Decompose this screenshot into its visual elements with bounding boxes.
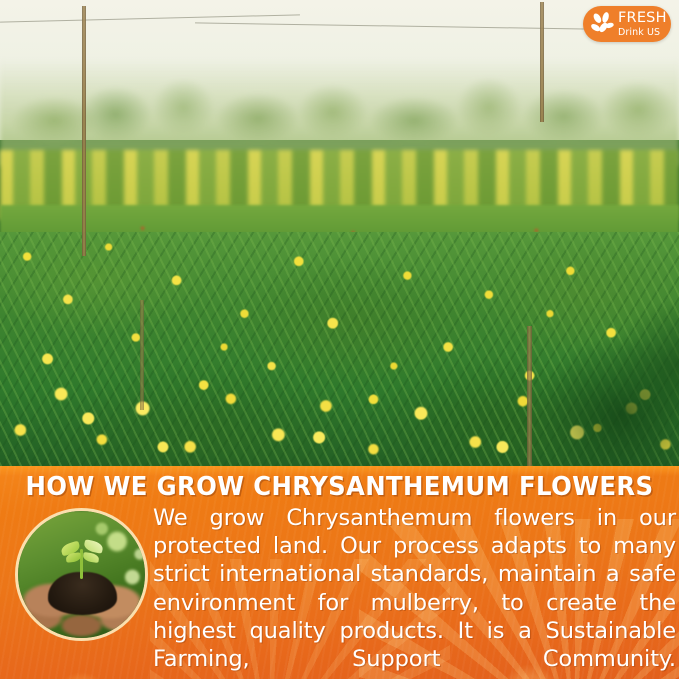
brand-name-primary: FRESH xyxy=(618,11,667,26)
support-pole-right xyxy=(540,2,544,122)
seedling-thumbnail xyxy=(15,508,148,641)
panel-headline: HOW WE GROW CHRYSANTHEMUM FLOWERS xyxy=(15,472,663,502)
product-infographic-card: FRESH Drink US HOW WE GROW CHRYSANTHEMUM… xyxy=(0,0,679,679)
brand-wordmark: FRESH Drink US xyxy=(618,11,667,38)
dark-bush-right xyxy=(489,296,679,466)
support-pole-far-right xyxy=(527,326,532,466)
support-pole-mid xyxy=(140,300,144,410)
brand-logo-badge[interactable]: FRESH Drink US xyxy=(583,6,671,42)
brand-name-secondary: Drink US xyxy=(618,28,667,38)
soil-mound xyxy=(48,572,117,615)
support-pole-left xyxy=(82,6,86,256)
panel-body-text: We grow Chrysanthemum flowers in our pro… xyxy=(153,504,676,679)
chrysanthemum-field-photo: FRESH Drink US xyxy=(0,0,679,466)
flower-leaf-icon xyxy=(587,9,617,39)
